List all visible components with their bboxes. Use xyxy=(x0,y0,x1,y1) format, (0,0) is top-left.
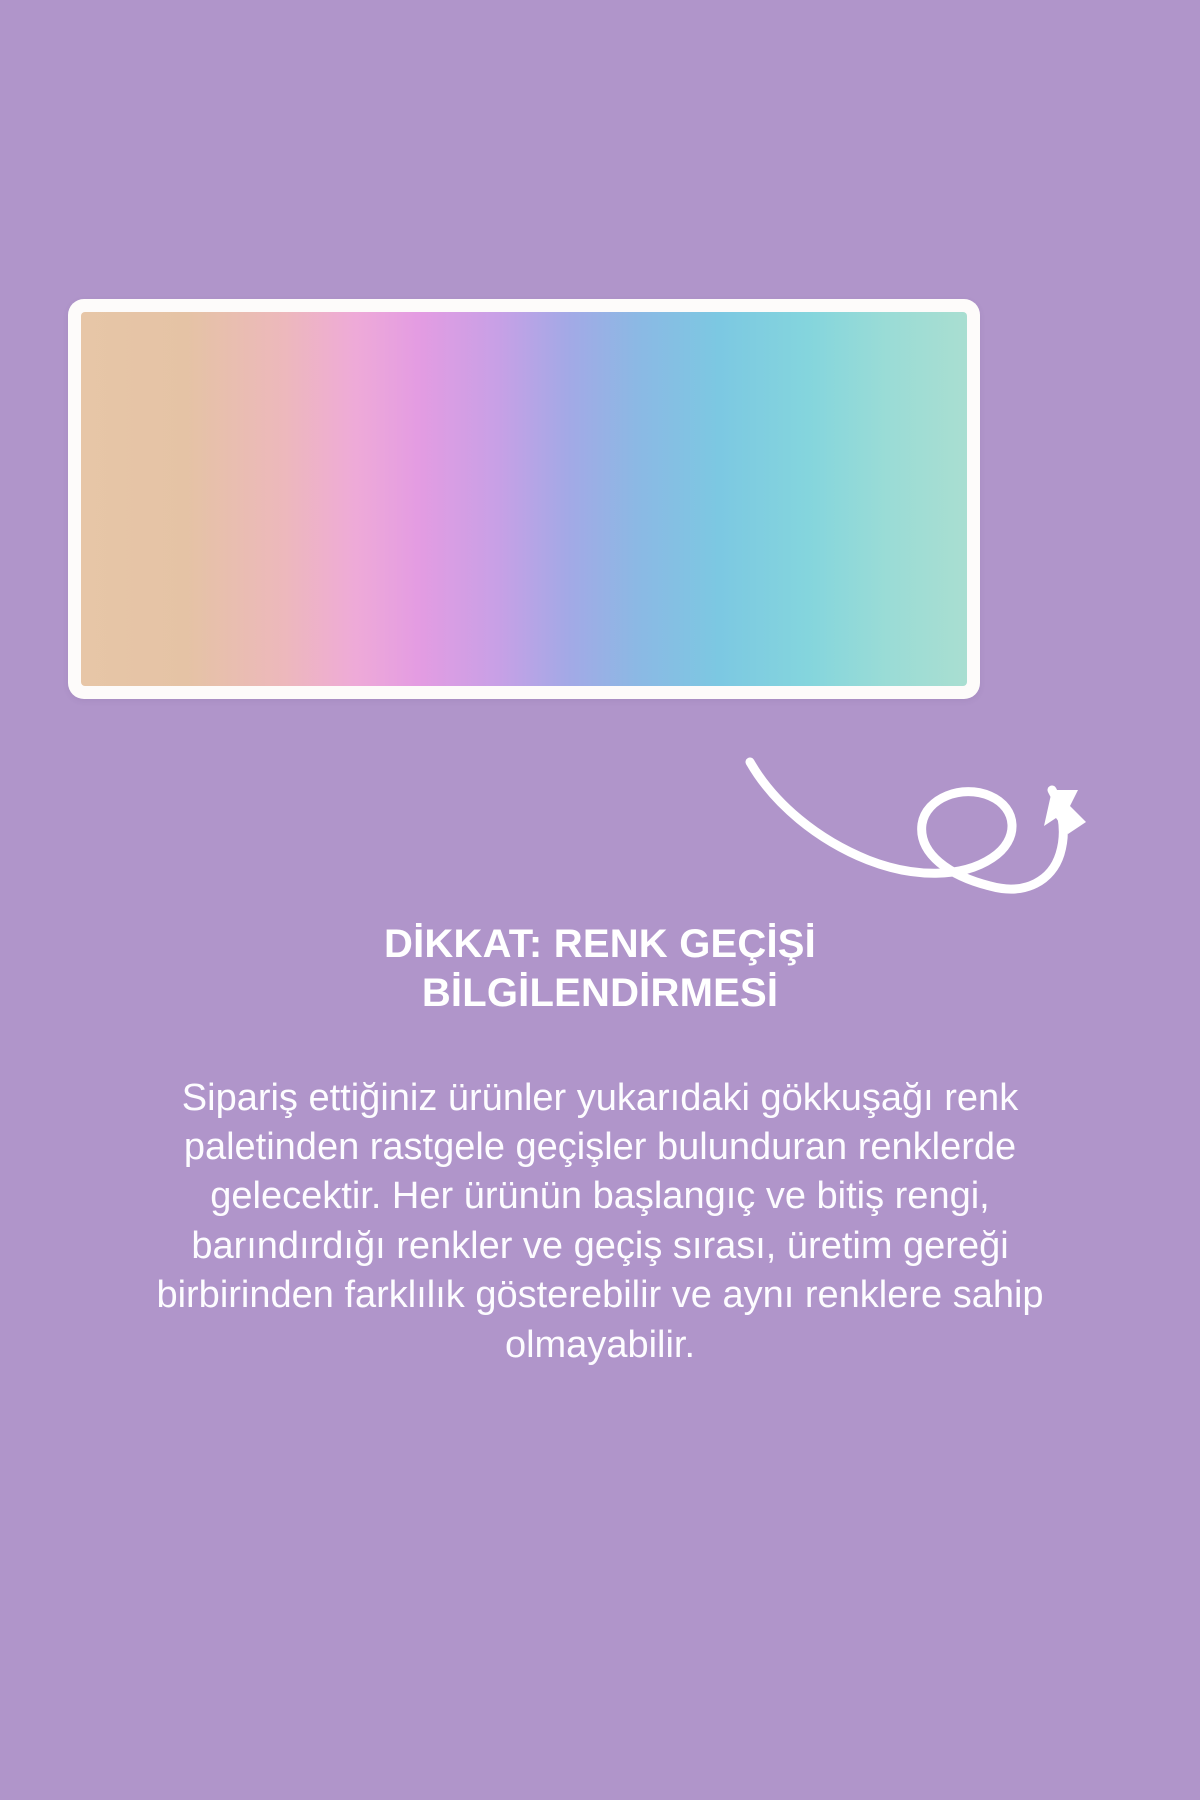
message-block: DİKKAT: RENK GEÇİŞİ BİLGİLENDİRMESİ Sipa… xyxy=(0,920,1200,1370)
gradient-swatch-card xyxy=(68,299,980,699)
rainbow-gradient-palette xyxy=(81,312,967,686)
body-paragraph: Sipariş ettiğiniz ürünler yukarıdaki gök… xyxy=(140,1074,1060,1370)
arrowhead-icon xyxy=(1044,790,1086,834)
page-title: DİKKAT: RENK GEÇİŞİ BİLGİLENDİRMESİ xyxy=(290,920,910,1018)
poster-canvas: DİKKAT: RENK GEÇİŞİ BİLGİLENDİRMESİ Sipa… xyxy=(0,0,1200,1800)
